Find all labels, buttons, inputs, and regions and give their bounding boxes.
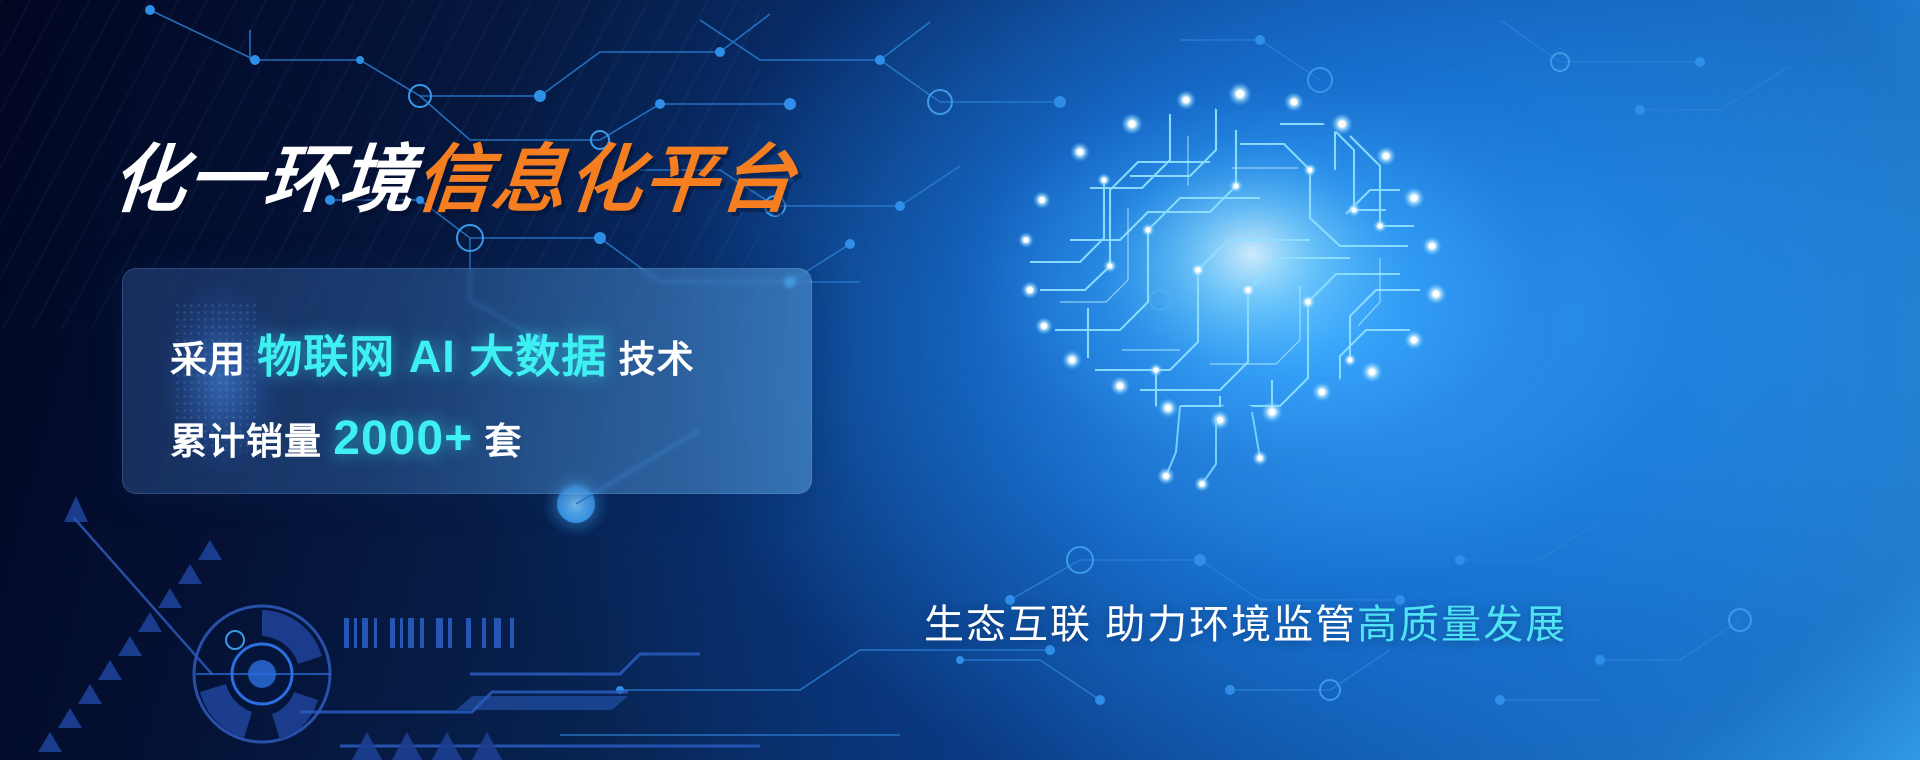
hero-banner: 化一环境信息化平台 采用 物联网 AI 大数据 技术 累计销量 2000+ 套 …	[0, 0, 1920, 760]
line2-prefix: 累计销量	[170, 421, 333, 462]
info-panel-line-1: 采用 物联网 AI 大数据 技术	[170, 320, 812, 385]
info-panel-line-2: 累计销量 2000+ 套	[170, 411, 812, 466]
line1-highlight: 物联网 AI 大数据	[257, 331, 607, 382]
line1-prefix: 采用	[170, 339, 257, 380]
brain-circuit-icon	[880, 40, 1600, 510]
line2-suffix: 套	[473, 421, 522, 462]
tagline-cyan-part: 高质量发展	[1357, 603, 1567, 647]
title-white-part: 化一环境	[108, 138, 419, 221]
info-panel: 采用 物联网 AI 大数据 技术 累计销量 2000+ 套	[122, 268, 812, 494]
tech-hud-decoration-icon	[0, 460, 900, 760]
tagline-white-part: 生态互联 助力环境监管	[924, 603, 1357, 647]
line1-suffix: 技术	[607, 339, 694, 380]
line2-highlight: 2000+	[333, 412, 473, 465]
tagline: 生态互联 助力环境监管高质量发展	[924, 592, 1567, 650]
ai-brain-illustration	[880, 40, 1600, 510]
title-orange-part: 信息化平台	[412, 138, 799, 221]
page-title: 化一环境信息化平台	[109, 143, 799, 217]
